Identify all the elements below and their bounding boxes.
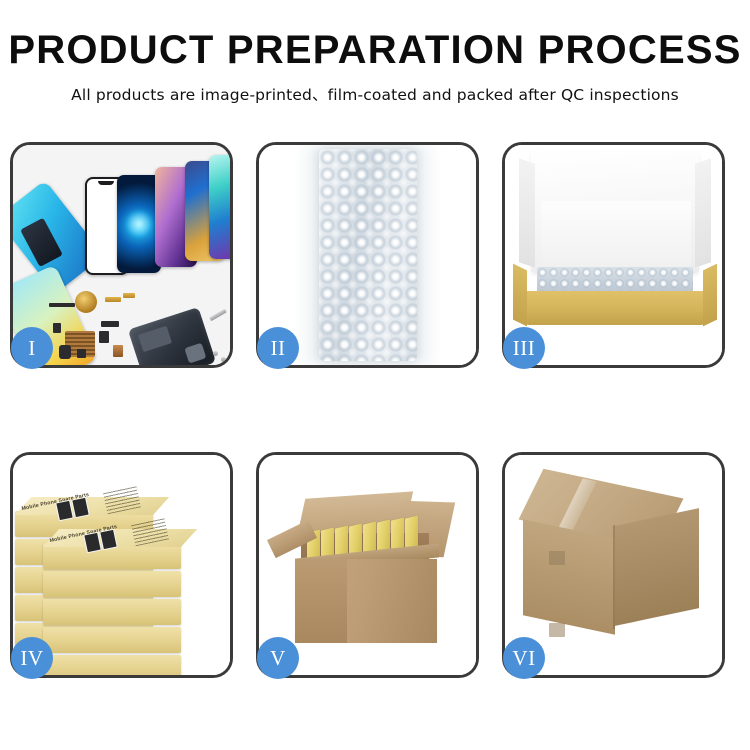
ribbon-cable-part: [101, 321, 119, 327]
screw-part: [221, 357, 226, 362]
carton-right-face: [615, 508, 699, 626]
step-badge-3: III: [503, 327, 545, 369]
step-panel-3[interactable]: III: [502, 142, 725, 368]
step-badge-1: I: [11, 327, 53, 369]
bubble-wrap-sheet: [319, 149, 417, 361]
carton-handle-cut: [549, 551, 565, 565]
small-chip-part: [53, 323, 61, 333]
step-panel-2[interactable]: II: [256, 142, 479, 368]
button-part: [77, 349, 86, 358]
step-badge-6: VI: [503, 637, 545, 679]
carton-left-face: [523, 519, 615, 635]
page-header: PRODUCT PREPARATION PROCESS All products…: [0, 0, 750, 105]
carton-handle-cut: [549, 623, 565, 637]
flex-cable-part: [49, 303, 75, 307]
phone-chassis-part: [128, 307, 216, 365]
stacked-box: [43, 571, 181, 597]
speaker-coil-part: [75, 291, 97, 313]
step-panel-5[interactable]: V: [256, 452, 479, 678]
gold-connector-part: [105, 297, 121, 302]
kraft-box-tray: [525, 291, 705, 325]
step-badge-5: V: [257, 637, 299, 679]
box-foam-insert: [541, 201, 691, 269]
carton-corner-seam: [613, 525, 615, 629]
page-subtitle: All products are image-printed、film-coat…: [0, 83, 750, 105]
carton-body-left-face: [295, 559, 347, 643]
step-panel-6[interactable]: VI: [502, 452, 725, 678]
screw-part: [213, 351, 218, 356]
step-badge-4: IV: [11, 637, 53, 679]
stacked-box: [43, 599, 181, 625]
step-panel-1[interactable]: I: [10, 142, 233, 368]
vibrator-part: [59, 345, 71, 359]
phone-screen-teal: [209, 155, 230, 259]
copper-shield-part: [113, 345, 123, 357]
step-panel-4[interactable]: Mobile Phone Spare Parts Mobile Phone Sp…: [10, 452, 233, 678]
tweezers-part: [209, 309, 227, 321]
page-title: PRODUCT PREPARATION PROCESS: [0, 30, 750, 70]
step-badge-2: II: [257, 327, 299, 369]
stacked-box: [43, 655, 181, 675]
camera-module-part: [99, 331, 109, 343]
process-steps-grid: I II III: [10, 142, 740, 678]
gold-contact-part: [123, 293, 135, 298]
stacked-box: [43, 627, 181, 653]
